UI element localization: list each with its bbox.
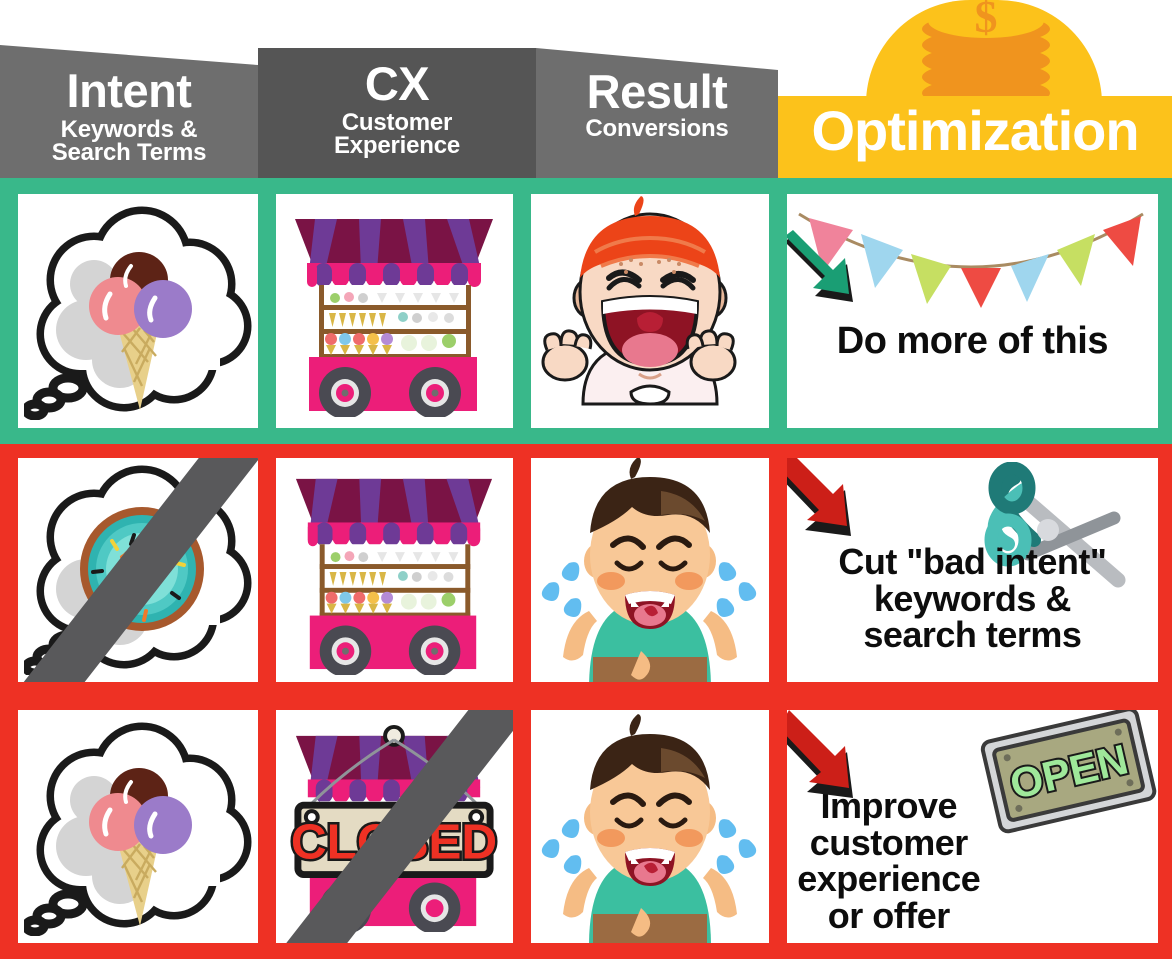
header-subtitle-cx: Customer Experience <box>258 111 536 158</box>
thought-bubble-ice-cream-icon <box>18 194 258 428</box>
thought-bubble-ice-cream-icon <box>18 710 258 943</box>
header-subtitle-intent-line1: Keywords & <box>0 118 258 142</box>
cell-result-row3 <box>531 710 769 943</box>
cell-optimization-row3: OPEN Improve customer experience or offe… <box>787 710 1158 943</box>
header-subtitle-intent: Keywords & Search Terms <box>0 118 258 165</box>
cell-result-row1 <box>531 194 769 428</box>
optimization-text-row3-line3: experience <box>787 861 1039 898</box>
header-column-result: Result Conversions <box>536 48 778 178</box>
header-column-optimization: Optimization <box>778 96 1172 178</box>
cell-intent-row2 <box>18 458 258 682</box>
happy-child-icon <box>531 194 769 428</box>
arrow-down-right-icon <box>787 226 869 310</box>
header-subtitle-result-line1: Conversions <box>536 117 778 141</box>
cell-result-row2 <box>531 458 769 682</box>
header-title-result: Result <box>536 70 778 115</box>
cell-optimization-row2: Cut "bad intent" keywords & search terms <box>787 458 1158 682</box>
header-title-intent: Intent <box>0 69 258 114</box>
header-subtitle-cx-line1: Customer <box>258 111 536 135</box>
optimization-text-row1: Do more of this <box>787 322 1158 361</box>
header-column-intent: Intent Keywords & Search Terms <box>0 45 258 178</box>
table-row: Cut "bad intent" keywords & search terms <box>0 444 1172 696</box>
infographic-canvas: Intent Keywords & Search Terms CX Custom… <box>0 0 1172 959</box>
header-title-optimization: Optimization <box>778 104 1172 157</box>
crying-child-icon <box>531 710 769 943</box>
optimization-text-row3-line4: or offer <box>787 898 1039 935</box>
thought-bubble-donut-icon <box>18 458 258 682</box>
cell-intent-row1 <box>18 194 258 428</box>
table-row: Do more of this <box>0 178 1172 444</box>
optimization-text-row2: Cut "bad intent" keywords & search terms <box>787 544 1158 654</box>
header-subtitle-cx-line2: Experience <box>258 134 536 158</box>
dollar-sign-icon: $ <box>922 0 1050 43</box>
coin-stack-icon: $ <box>922 4 1050 108</box>
header-subtitle-intent-line2: Search Terms <box>0 141 258 165</box>
arrow-down-right-icon <box>787 458 877 550</box>
arrow-down-right-icon <box>787 710 879 812</box>
cell-cx-row1 <box>276 194 512 428</box>
ice-cream-cart-icon <box>285 205 503 417</box>
cell-cx-row3: CLOSED <box>276 710 512 943</box>
header-subtitle-result: Conversions <box>536 117 778 141</box>
crying-child-icon <box>531 458 769 682</box>
cell-intent-row3 <box>18 710 258 943</box>
ice-cream-cart-icon <box>285 465 503 675</box>
cell-optimization-row1: Do more of this <box>787 194 1158 428</box>
header-title-cx: CX <box>258 62 536 107</box>
optimization-text-row3-line2: customer <box>787 825 1039 862</box>
table-row: CLOSED <box>0 696 1172 959</box>
header: Intent Keywords & Search Terms CX Custom… <box>0 0 1172 178</box>
cell-cx-row2 <box>276 458 512 682</box>
header-column-cx: CX Customer Experience <box>258 48 536 178</box>
optimization-text-row2-line3: search terms <box>787 617 1158 654</box>
optimization-text-row2-line2: keywords & <box>787 581 1158 618</box>
